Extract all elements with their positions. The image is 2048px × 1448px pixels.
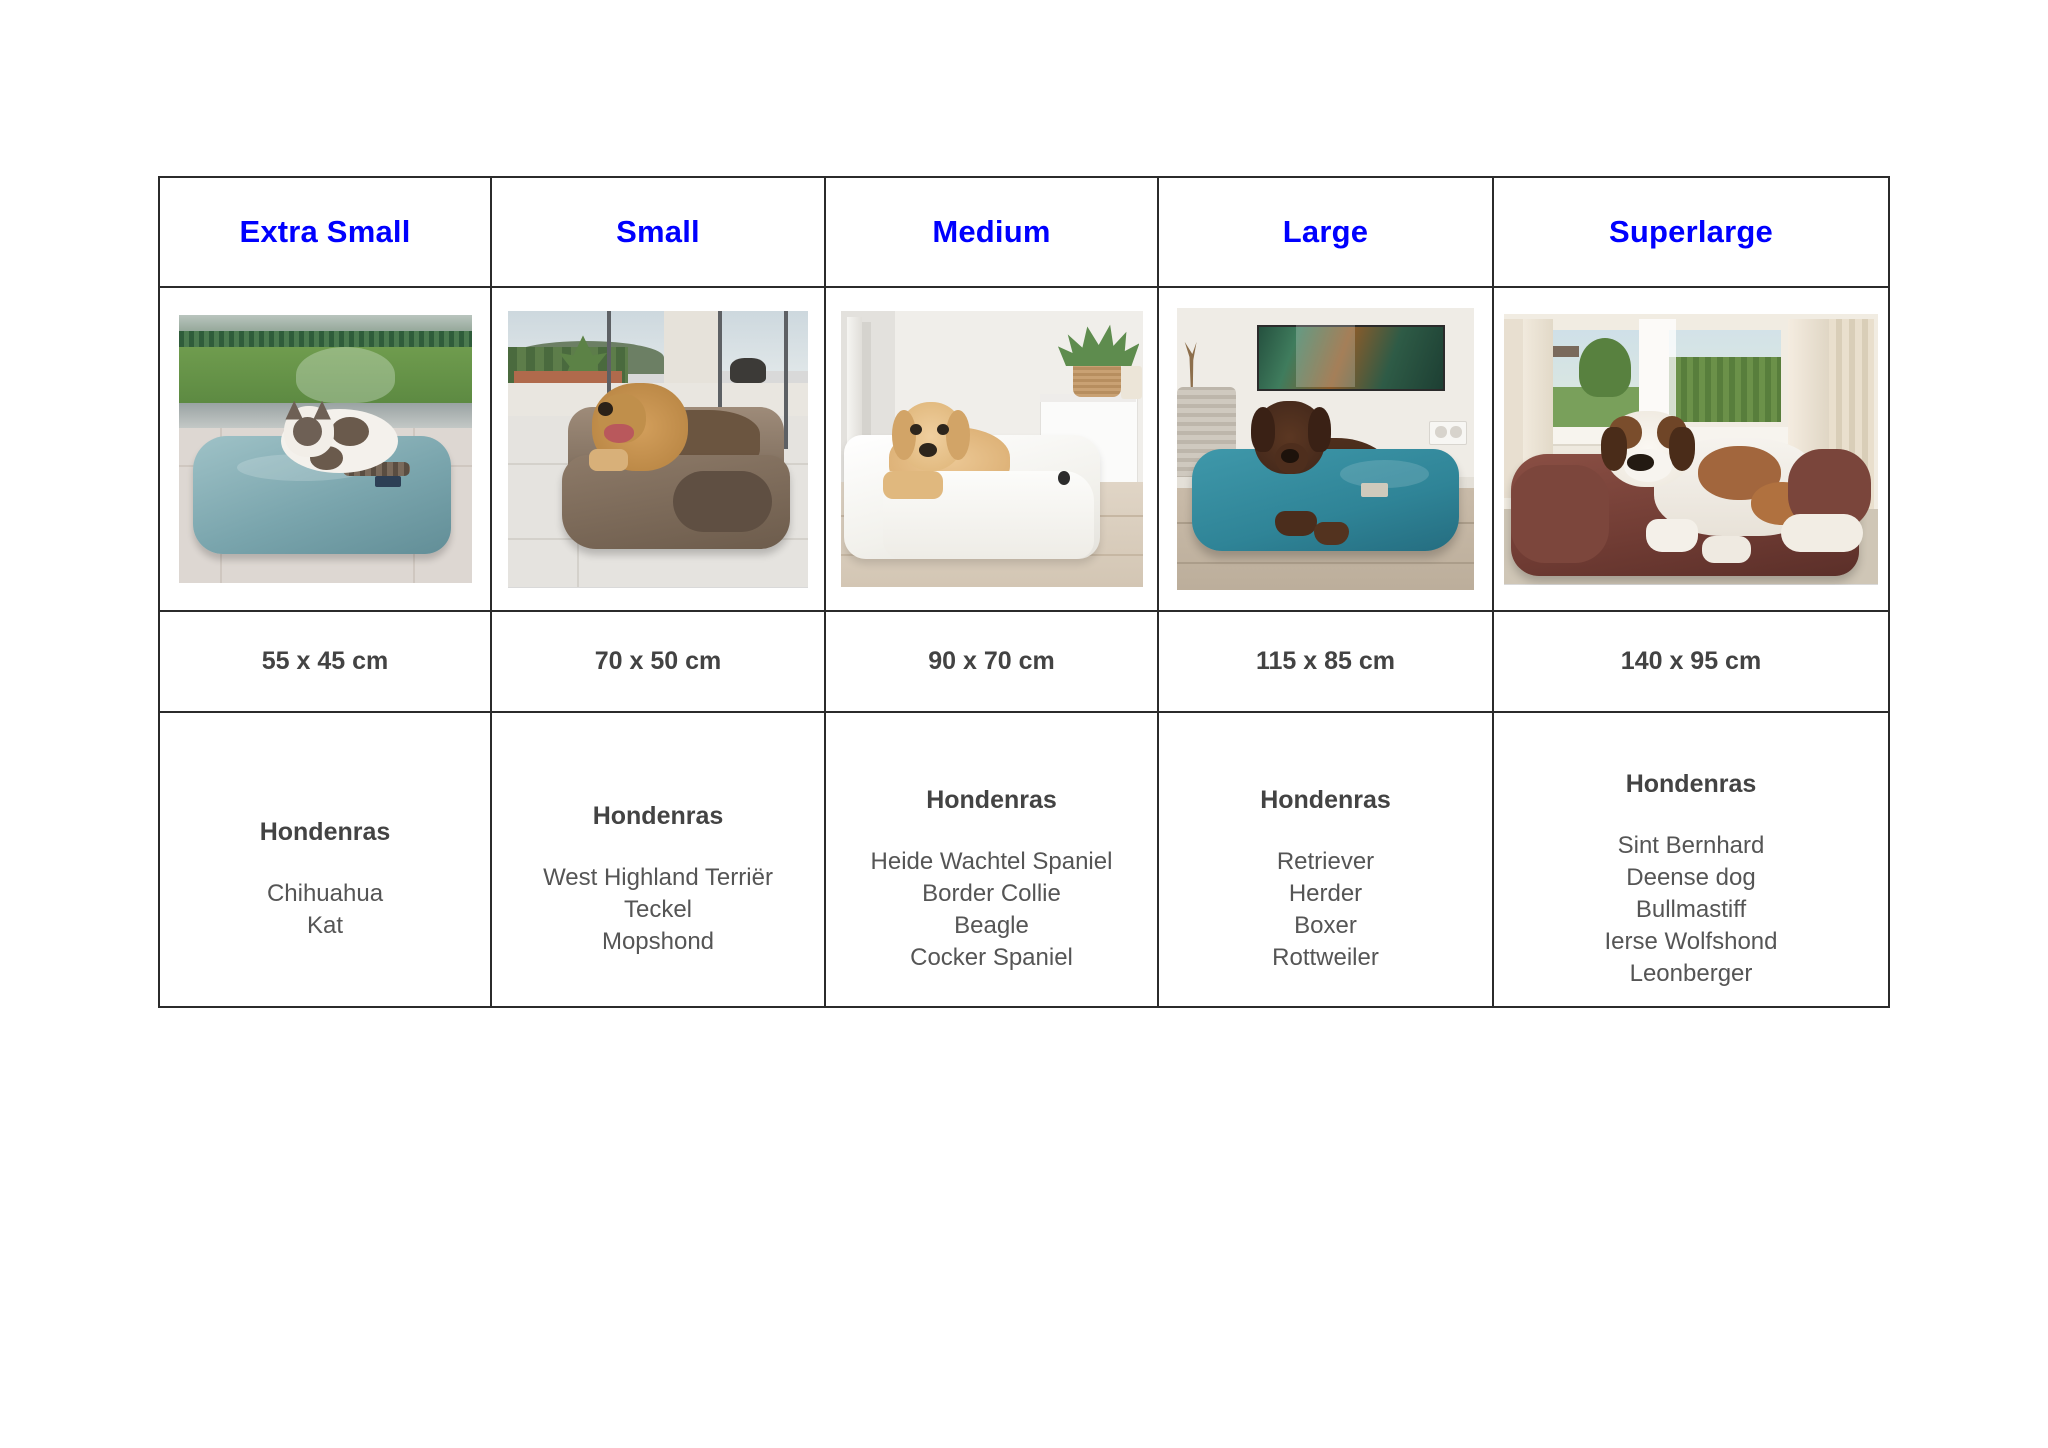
- breeds-heading-superlarge: Hondenras: [1494, 769, 1888, 800]
- breeds-heading-large: Hondenras: [1159, 785, 1492, 816]
- dimension-cell-large: 115 x 85 cm: [1158, 611, 1493, 712]
- breeds-cell-extra-small: Hondenras Chihuahua Kat: [159, 712, 491, 1007]
- header-cell-medium: Medium: [825, 177, 1158, 287]
- breed-item: Beagle: [826, 910, 1157, 942]
- dimension-value-small: 70 x 50 cm: [595, 647, 722, 675]
- size-label-large: Large: [1283, 214, 1368, 249]
- breeds-cell-large: Hondenras Retriever Herder Boxer Rottwei…: [1158, 712, 1493, 1007]
- breed-item: Mopshond: [492, 926, 824, 958]
- breeds-block-small: Hondenras West Highland Terriër Teckel M…: [492, 761, 824, 958]
- image-cell-small: [491, 287, 825, 611]
- image-cell-large: [1158, 287, 1493, 611]
- breed-item: Deense dog: [1494, 862, 1888, 894]
- breed-item: Border Collie: [826, 878, 1157, 910]
- breed-item: Sint Bernhard: [1494, 830, 1888, 862]
- photo-medium: [841, 311, 1143, 587]
- photo-extra-small: [179, 315, 472, 583]
- breed-item: Kat: [160, 910, 490, 942]
- dimension-value-medium: 90 x 70 cm: [928, 647, 1055, 675]
- breeds-block-superlarge: Hondenras Sint Bernhard Deense dog Bullm…: [1494, 729, 1888, 990]
- breeds-block-extra-small: Hondenras Chihuahua Kat: [160, 777, 490, 942]
- dimension-value-superlarge: 140 x 95 cm: [1621, 647, 1761, 675]
- image-cell-extra-small: [159, 287, 491, 611]
- dimension-cell-superlarge: 140 x 95 cm: [1493, 611, 1889, 712]
- dimension-cell-small: 70 x 50 cm: [491, 611, 825, 712]
- breeds-list-extra-small: Chihuahua Kat: [160, 878, 490, 942]
- dog-bed-size-table: Extra Small Small Medium Large Superlarg…: [158, 176, 1890, 1008]
- header-cell-small: Small: [491, 177, 825, 287]
- breeds-list-superlarge: Sint Bernhard Deense dog Bullmastiff Ier…: [1494, 830, 1888, 990]
- photo-wrap-extra-small: [160, 288, 490, 610]
- photo-wrap-small: [492, 288, 824, 610]
- breed-item: Heide Wachtel Spaniel: [826, 846, 1157, 878]
- breed-item: Cocker Spaniel: [826, 942, 1157, 974]
- breed-item: Herder: [1159, 878, 1492, 910]
- header-cell-large: Large: [1158, 177, 1493, 287]
- image-cell-medium: [825, 287, 1158, 611]
- breeds-heading-small: Hondenras: [492, 801, 824, 832]
- breed-item: Rottweiler: [1159, 942, 1492, 974]
- breed-item: Boxer: [1159, 910, 1492, 942]
- image-cell-superlarge: [1493, 287, 1889, 611]
- breed-item: West Highland Terriër: [492, 862, 824, 894]
- breed-item: Bullmastiff: [1494, 894, 1888, 926]
- dimension-cell-medium: 90 x 70 cm: [825, 611, 1158, 712]
- breed-item: Chihuahua: [160, 878, 490, 910]
- breed-item: Leonberger: [1494, 958, 1888, 990]
- dimension-value-extra-small: 55 x 45 cm: [262, 647, 389, 675]
- table-image-row: [159, 287, 1889, 611]
- photo-wrap-medium: [826, 288, 1157, 610]
- size-label-superlarge: Superlarge: [1609, 214, 1773, 249]
- photo-superlarge: [1504, 314, 1878, 585]
- breeds-cell-medium: Hondenras Heide Wachtel Spaniel Border C…: [825, 712, 1158, 1007]
- dimension-value-large: 115 x 85 cm: [1256, 647, 1395, 675]
- breed-item: Ierse Wolfshond: [1494, 926, 1888, 958]
- photo-large: [1177, 308, 1474, 590]
- breeds-list-medium: Heide Wachtel Spaniel Border Collie Beag…: [826, 846, 1157, 974]
- page-canvas: Extra Small Small Medium Large Superlarg…: [0, 0, 2048, 1448]
- breeds-block-large: Hondenras Retriever Herder Boxer Rottwei…: [1159, 745, 1492, 974]
- table-header-row: Extra Small Small Medium Large Superlarg…: [159, 177, 1889, 287]
- breeds-cell-small: Hondenras West Highland Terriër Teckel M…: [491, 712, 825, 1007]
- dimension-cell-extra-small: 55 x 45 cm: [159, 611, 491, 712]
- table-dimensions-row: 55 x 45 cm 70 x 50 cm 90 x 70 cm 115 x 8…: [159, 611, 1889, 712]
- size-label-extra-small: Extra Small: [239, 214, 410, 249]
- table-breeds-row: Hondenras Chihuahua Kat Hondenras West H…: [159, 712, 1889, 1007]
- size-label-small: Small: [616, 214, 700, 249]
- breeds-cell-superlarge: Hondenras Sint Bernhard Deense dog Bullm…: [1493, 712, 1889, 1007]
- breeds-heading-medium: Hondenras: [826, 785, 1157, 816]
- breeds-heading-extra-small: Hondenras: [160, 817, 490, 848]
- breeds-block-medium: Hondenras Heide Wachtel Spaniel Border C…: [826, 745, 1157, 974]
- breed-item: Teckel: [492, 894, 824, 926]
- breed-item: Retriever: [1159, 846, 1492, 878]
- breeds-list-large: Retriever Herder Boxer Rottweiler: [1159, 846, 1492, 974]
- header-cell-extra-small: Extra Small: [159, 177, 491, 287]
- photo-wrap-large: [1159, 288, 1492, 610]
- photo-wrap-superlarge: [1494, 288, 1888, 610]
- size-label-medium: Medium: [932, 214, 1050, 249]
- photo-small: [508, 311, 808, 588]
- breeds-list-small: West Highland Terriër Teckel Mopshond: [492, 862, 824, 958]
- header-cell-superlarge: Superlarge: [1493, 177, 1889, 287]
